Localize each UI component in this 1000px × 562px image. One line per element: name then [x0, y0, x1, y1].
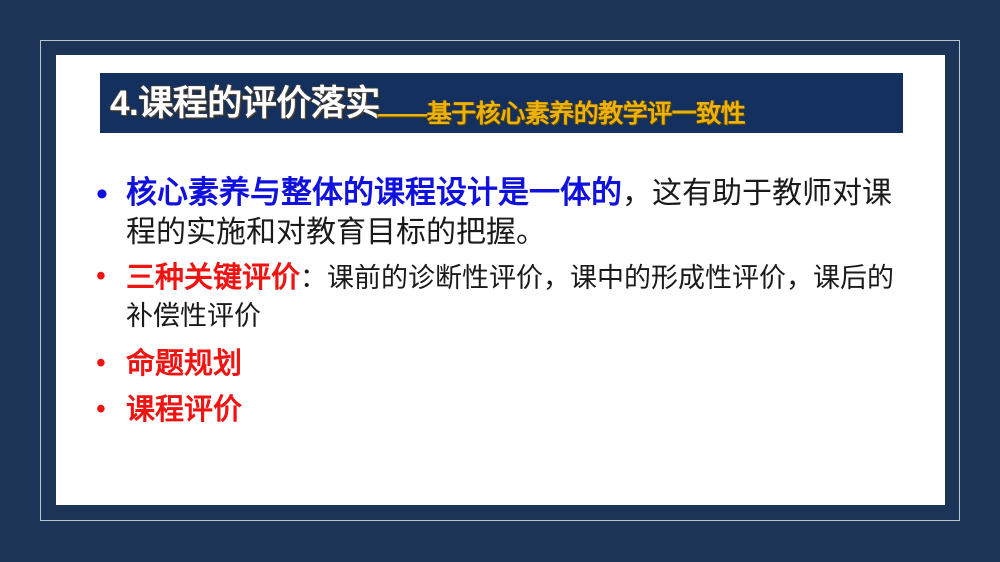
slide-title-subtitle: ——基于核心素养的教学评一致性 [378, 102, 746, 133]
slide-content-panel: 4.课程的评价落实 ——基于核心素养的教学评一致性 • 核心素养与整体的课程设计… [56, 55, 945, 505]
list-item: • 命题规划 [96, 344, 916, 385]
list-item-text: 三种关键评价：课前的诊断性评价，课中的形成性评价，课后的补偿性评价 [126, 258, 916, 335]
slide-title-bar: 4.课程的评价落实 ——基于核心素养的教学评一致性 [100, 73, 903, 133]
list-item: • 课程评价 [96, 390, 916, 431]
list-item-run-emphasis: 三种关键评价 [126, 262, 300, 294]
presentation-slide: 4.课程的评价落实 ——基于核心素养的教学评一致性 • 核心素养与整体的课程设计… [0, 0, 1000, 562]
list-item: • 三种关键评价：课前的诊断性评价，课中的形成性评价，课后的补偿性评价 [96, 258, 916, 335]
list-item-run-emphasis: 核心素养与整体的课程设计是一体的 [126, 175, 622, 210]
list-item-text: 课程评价 [126, 390, 916, 431]
bullet-marker-icon: • [96, 344, 126, 383]
list-item: • 核心素养与整体的课程设计是一体的，这有助于教师对课程的实施和对教育目标的把握… [96, 173, 916, 252]
bullet-marker-icon: • [96, 258, 126, 297]
list-item-run-emphasis: 命题规划 [126, 348, 242, 380]
list-item-run-emphasis: 课程评价 [126, 394, 242, 426]
list-item-text: 核心素养与整体的课程设计是一体的，这有助于教师对课程的实施和对教育目标的把握。 [126, 173, 916, 252]
bullet-marker-icon: • [96, 173, 126, 217]
bullet-list: • 核心素养与整体的课程设计是一体的，这有助于教师对课程的实施和对教育目标的把握… [96, 173, 916, 437]
bullet-marker-icon: • [96, 390, 126, 429]
slide-title-main: 4.课程的评价落实 [110, 86, 380, 121]
list-item-text: 命题规划 [126, 344, 916, 385]
